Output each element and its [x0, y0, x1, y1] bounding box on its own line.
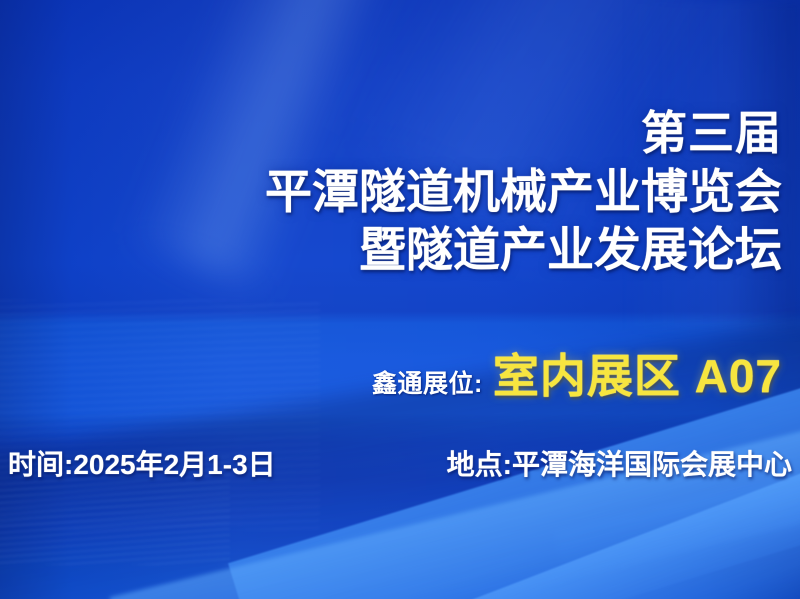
booth-number: 室内展区 A07	[493, 340, 782, 406]
event-title-line-1: 第三届	[0, 110, 782, 156]
booth-label: 鑫通展位:	[372, 364, 483, 400]
event-title-line-3: 暨隧道产业发展论坛	[0, 226, 782, 273]
event-title: 第三届 平潭隧道机械产业博览会 暨隧道产业发展论坛	[0, 110, 782, 273]
event-details: 时间:2025年2月1-3日 地点:平潭海洋国际会展中心	[8, 443, 792, 483]
banner-content: 第三届 平潭隧道机械产业博览会 暨隧道产业发展论坛 鑫通展位: 室内展区 A07…	[0, 0, 800, 599]
event-venue: 地点:平潭海洋国际会展中心	[447, 443, 792, 483]
event-date: 时间:2025年2月1-3日	[8, 443, 276, 483]
booth-info: 鑫通展位: 室内展区 A07	[0, 340, 782, 406]
event-title-line-2: 平潭隧道机械产业博览会	[0, 168, 782, 215]
exhibition-banner: 第三届 平潭隧道机械产业博览会 暨隧道产业发展论坛 鑫通展位: 室内展区 A07…	[0, 0, 800, 599]
